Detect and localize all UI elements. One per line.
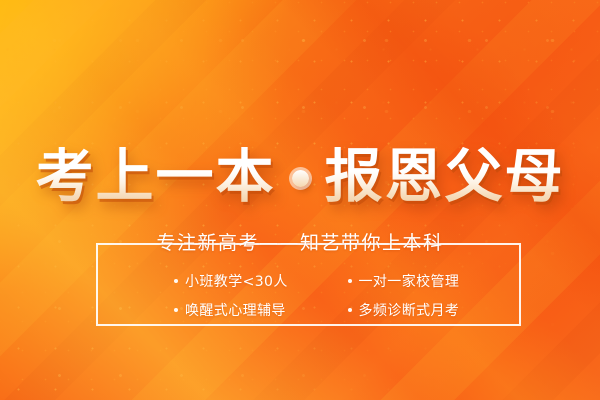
feature-item: 一对一家校管理 (348, 266, 522, 295)
feature-label: 小班教学<30人 (185, 271, 288, 291)
headline-right-text: 报恩父母 (325, 147, 565, 205)
feature-item: 小班教学<30人 (174, 266, 348, 295)
feature-item: 多频诊断式月考 (348, 295, 522, 324)
bullet-dot-icon (174, 308, 178, 312)
headline-left-text: 考上一本 (35, 147, 275, 205)
feature-label: 唤醒式心理辅导 (185, 300, 286, 320)
frame-top-gap-mask (120, 240, 498, 250)
promo-banner: 考上一本 报恩父母 专注新高考——知艺带你上本科 小班教学<30人 一对一家校管… (0, 0, 600, 400)
feature-item: 唤醒式心理辅导 (174, 295, 348, 324)
feature-label: 一对一家校管理 (359, 271, 460, 291)
bullet-dot-icon (174, 279, 178, 283)
bullet-dot-icon (348, 308, 352, 312)
feature-label: 多频诊断式月考 (359, 300, 460, 320)
dot-separator-icon (292, 170, 309, 187)
bullet-dot-icon (348, 279, 352, 283)
headline: 考上一本 报恩父母 (0, 140, 600, 212)
feature-list: 小班教学<30人 一对一家校管理 唤醒式心理辅导 多频诊断式月考 (96, 266, 521, 324)
